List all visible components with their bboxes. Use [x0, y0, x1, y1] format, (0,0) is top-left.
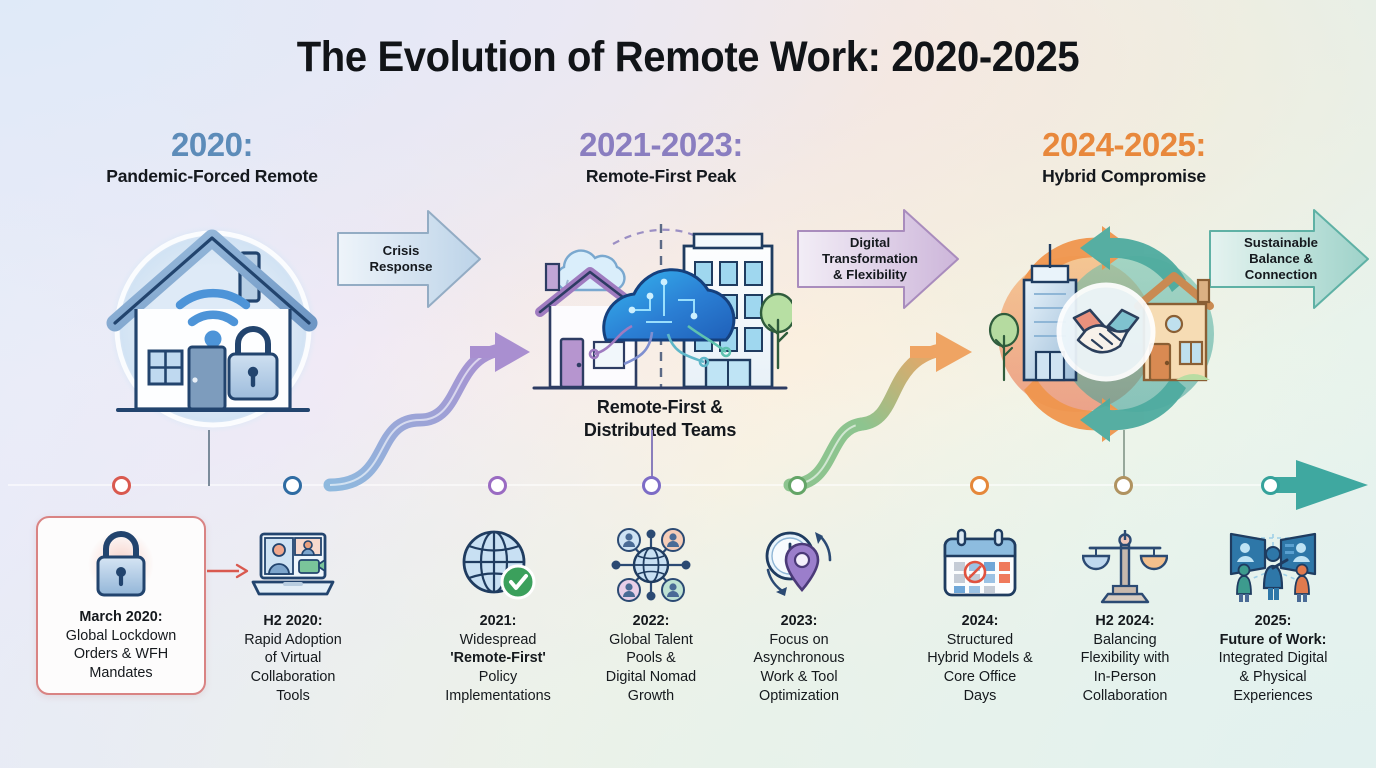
phase-subtitle-2021-2023: Remote-First Peak	[446, 166, 876, 187]
milestone-card-2024[interactable]: 2024: StructuredHybrid Models &Core Offi…	[912, 522, 1048, 706]
milestone-head-2021: 2021:	[480, 613, 517, 629]
milestone-text-2021: 2021: Widespread 'Remote-First' PolicyIm…	[430, 612, 566, 706]
milestone-text-2022: 2022: Global TalentPools &Digital NomadG…	[583, 612, 719, 706]
clock-location-async-icon	[731, 522, 867, 608]
milestone-body-2023: Focus onAsynchronousWork & ToolOptimizat…	[753, 632, 844, 704]
transition-arrow-sustainable-balance: SustainableBalance &Connection	[1208, 205, 1370, 313]
page-title: The Evolution of Remote Work: 2020-2025	[48, 33, 1328, 82]
milestone-card-march-2020[interactable]: March 2020: Global LockdownOrders & WFHM…	[36, 516, 206, 695]
milestone-body-2025: Integrated Digital& PhysicalExperiences	[1219, 650, 1328, 703]
hybrid-meeting-screens-icon	[1203, 522, 1343, 608]
milestone-card-2023[interactable]: 2023: Focus onAsynchronousWork & ToolOpt…	[731, 522, 867, 706]
transition-label-2: SustainableBalance &Connection	[1208, 205, 1370, 313]
milestone-body-march-2020: Global LockdownOrders & WFHMandates	[66, 628, 176, 681]
timeline-dot-2024[interactable]	[970, 476, 989, 495]
milestone-head-2023: 2023:	[781, 613, 818, 629]
phase-header-2020: 2020: Pandemic-Forced Remote	[0, 128, 427, 187]
timeline-dot-2021[interactable]	[488, 476, 507, 495]
milestone-head2-2025: Future of Work:	[1220, 632, 1327, 648]
milestone-text-2025: 2025: Future of Work: Integrated Digital…	[1203, 612, 1343, 706]
milestone-text-2023: 2023: Focus onAsynchronousWork & ToolOpt…	[731, 612, 867, 706]
milestone-head-march-2020: March 2020:	[79, 609, 162, 625]
milestone-card-2021[interactable]: 2021: Widespread 'Remote-First' PolicyIm…	[430, 522, 566, 706]
milestone-text-h2-2020: H2 2020: Rapid Adoptionof VirtualCollabo…	[225, 612, 361, 706]
milestone-text-2024: 2024: StructuredHybrid Models &Core Offi…	[912, 612, 1048, 706]
transition-label-0: CrisisResponse	[336, 205, 482, 313]
milestone-body-h2-2024: BalancingFlexibility withIn-PersonCollab…	[1081, 632, 1170, 704]
timeline-dot-2023[interactable]	[788, 476, 807, 495]
milestone-text-h2-2024: H2 2024: BalancingFlexibility withIn-Per…	[1057, 612, 1193, 706]
phase-subtitle-2020: Pandemic-Forced Remote	[0, 166, 427, 187]
stem-h2-2020	[208, 430, 210, 486]
timeline-dot-h2-2020[interactable]	[283, 476, 302, 495]
milestone-body-2021-pre: Widespread	[460, 632, 537, 648]
globe-check-icon	[430, 522, 566, 608]
milestone-body-2022: Global TalentPools &Digital NomadGrowth	[606, 632, 696, 704]
milestone-head-h2-2020: H2 2020:	[263, 613, 322, 629]
milestone-body-2021-bold: 'Remote-First'	[450, 650, 546, 666]
infographic-canvas: The Evolution of Remote Work: 2020-2025 …	[0, 0, 1376, 768]
transition-arrow-digital-transformation: DigitalTransformation& Flexibility	[796, 205, 960, 313]
transition-label-1: DigitalTransformation& Flexibility	[796, 205, 960, 313]
timeline-dot-2022[interactable]	[642, 476, 661, 495]
milestone-head-2022: 2022:	[633, 613, 670, 629]
calendar-hybrid-icon	[912, 522, 1048, 608]
milestone-card-h2-2024[interactable]: H2 2024: BalancingFlexibility withIn-Per…	[1057, 522, 1193, 706]
balance-scale-icon	[1057, 522, 1193, 608]
phase-year-2024-2025: 2024-2025:	[909, 128, 1339, 163]
milestone-card-2025[interactable]: 2025: Future of Work: Integrated Digital…	[1203, 522, 1343, 706]
phase-subtitle-2024-2025: Hybrid Compromise	[909, 166, 1339, 187]
timeline-dot-march-2020[interactable]	[112, 476, 131, 495]
laptop-video-call-icon	[225, 522, 361, 608]
phase-year-2021-2023: 2021-2023:	[446, 128, 876, 163]
transition-arrow-crisis-response: CrisisResponse	[336, 205, 482, 313]
padlock-icon	[42, 524, 200, 604]
milestone-body-2024: StructuredHybrid Models &Core OfficeDays	[927, 632, 1033, 704]
milestone-head-h2-2024: H2 2024:	[1095, 613, 1154, 629]
milestone-card-h2-2020[interactable]: H2 2020: Rapid Adoptionof VirtualCollabo…	[225, 522, 361, 706]
timeline-dot-2025[interactable]	[1261, 476, 1280, 495]
phase-header-2021-2023: 2021-2023: Remote-First Peak	[446, 128, 876, 187]
milestone-body-2021-post: PolicyImplementations	[445, 669, 551, 704]
phase-year-2020: 2020:	[0, 128, 427, 163]
milestone-text-march-2020: March 2020: Global LockdownOrders & WFHM…	[42, 608, 200, 683]
phase-header-2024-2025: 2024-2025: Hybrid Compromise	[909, 128, 1339, 187]
milestone-head-2025: 2025:	[1255, 613, 1292, 629]
timeline-dot-h2-2024[interactable]	[1114, 476, 1133, 495]
milestone-head-2024: 2024:	[962, 613, 999, 629]
milestone-card-2022[interactable]: 2022: Global TalentPools &Digital NomadG…	[583, 522, 719, 706]
milestone-body-h2-2020: Rapid Adoptionof VirtualCollaborationToo…	[244, 632, 342, 704]
global-network-people-icon	[583, 522, 719, 608]
timeline-track	[0, 300, 1376, 530]
